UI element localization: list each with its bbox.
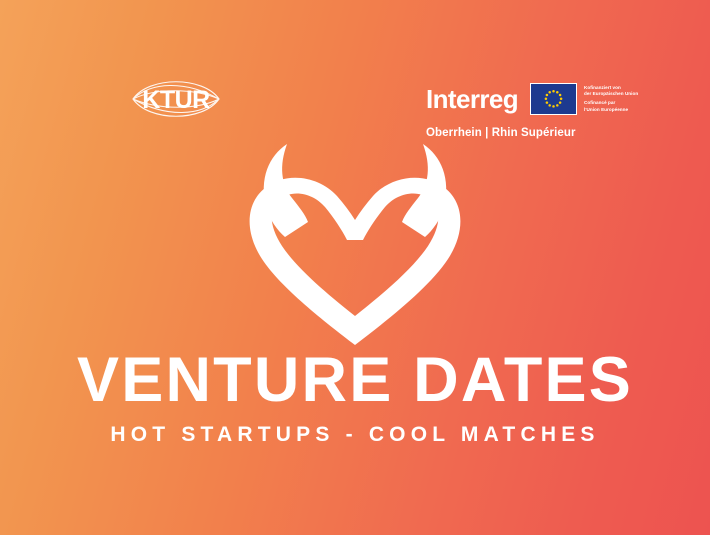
logo-row: KTUR Interreg [0, 0, 710, 160]
interreg-programme-name: Oberrhein | Rhin Supérieur [426, 127, 666, 139]
interreg-logo-block: Interreg [426, 80, 666, 150]
eu-funding-note: Kofinanziert von der Europäischen Union … [584, 85, 638, 114]
page-title: VENTURE DATES [0, 349, 710, 412]
ktur-wordmark: KTUR [142, 86, 210, 114]
eu-funding-fr-line1: Cofinancé par [584, 100, 638, 107]
eu-funding-de-line2: der Europäischen Union [584, 91, 638, 98]
eu-funding-fr-line2: l'Union Européenne [584, 107, 638, 114]
eu-stars [545, 90, 563, 108]
page-subtitle: HOT STARTUPS - COOL MATCHES [0, 424, 710, 445]
devil-heart-outline-logo [229, 142, 481, 347]
eu-funding-de-line1: Kofinanziert von [584, 85, 638, 92]
interreg-wordmark: Interreg [426, 86, 518, 112]
ktur-logo: KTUR [125, 74, 227, 124]
interreg-top-row: Interreg [426, 80, 666, 118]
european-union-flag [530, 83, 577, 115]
venture-dates-poster: KTUR Interreg [0, 0, 710, 535]
